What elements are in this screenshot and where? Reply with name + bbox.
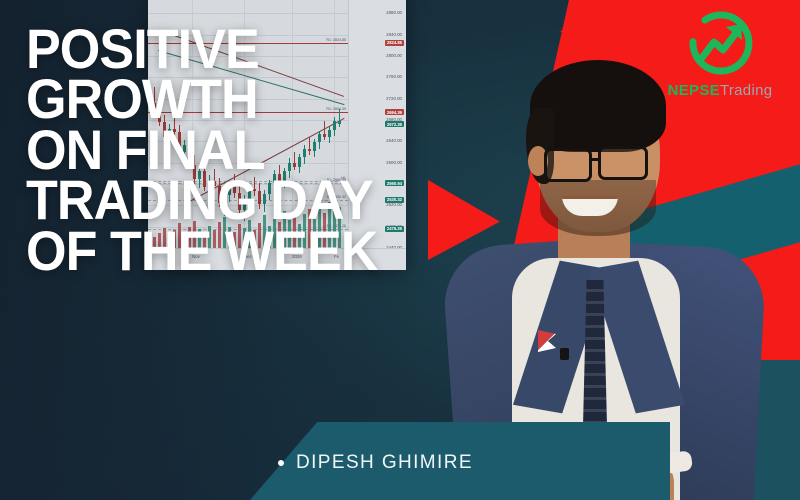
- logo-primary-text: NEPSE: [668, 82, 720, 99]
- logo-secondary-text: Trading: [720, 82, 772, 99]
- gridline: [148, 13, 348, 14]
- lapel-microphone-icon: [560, 348, 569, 360]
- nepse-trading-logo[interactable]: NEPSETrading: [654, 10, 786, 114]
- headline-line-5: OF THE WEEK: [26, 226, 426, 276]
- eyeglasses-right-lens-icon: [598, 146, 648, 180]
- headline-line-4: TRADING DAY: [26, 175, 426, 225]
- speaker-credit: DIPESH GHIMIRE: [278, 452, 473, 474]
- logo-wordmark: NEPSETrading: [654, 82, 786, 99]
- bullet-icon: [278, 460, 284, 466]
- circular-up-trend-arrow-icon: [688, 10, 754, 76]
- eyeglasses-bridge-icon: [590, 158, 600, 161]
- speaker-name: DIPESH GHIMIRE: [296, 452, 473, 474]
- video-thumbnail: R1: 2824.85R1: 2694.39S1: 2560.94S1: 253…: [0, 0, 800, 500]
- price-tick-label: 2880.00: [386, 10, 402, 15]
- eyeglasses-left-lens-icon: [544, 148, 592, 182]
- page-title: POSITIVE GROWTH ON FINAL TRADING DAY OF …: [26, 24, 426, 276]
